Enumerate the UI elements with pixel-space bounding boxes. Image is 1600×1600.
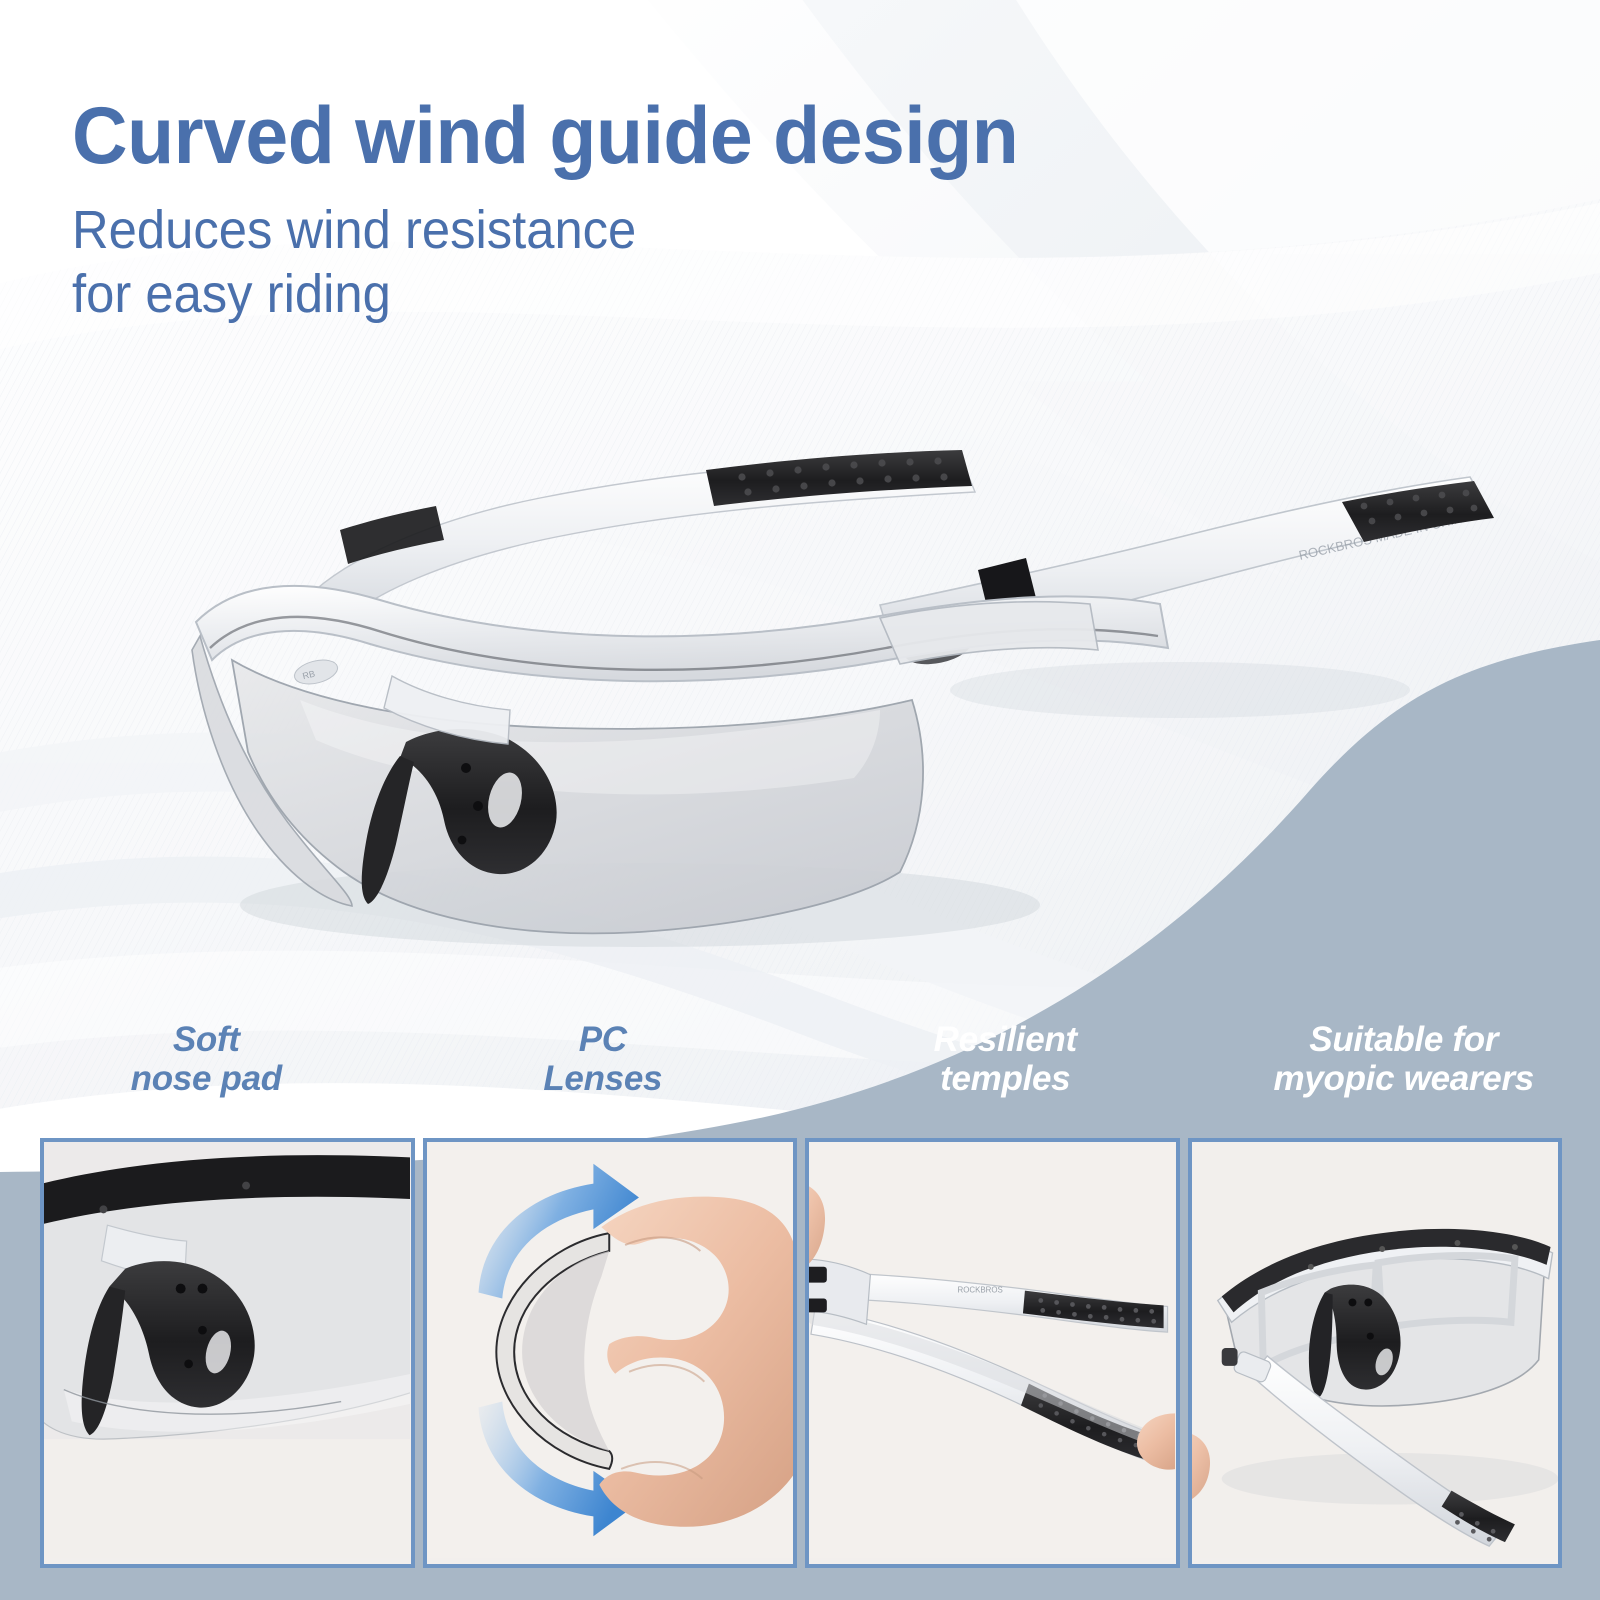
caption-line-1: Suitable for: [1208, 1020, 1600, 1059]
myopic-insert-image: [1192, 1142, 1558, 1558]
caption-line-1: PC: [407, 1020, 800, 1059]
caption-line-1: Resilient: [809, 1020, 1202, 1059]
page-subtitle-line-2: for easy riding: [72, 263, 1247, 327]
panel-resilient-temple-flex: ROCKBROS: [805, 1138, 1180, 1568]
feature-panel-row: ROCKBROS: [40, 1138, 1562, 1568]
panel-nose-pad-closeup: [40, 1138, 415, 1568]
pc-lens-flex-image: [427, 1142, 793, 1558]
feature-caption-pc-lenses: PC Lenses: [403, 1020, 800, 1130]
resilient-temple-flex-image: ROCKBROS: [809, 1142, 1175, 1558]
caption-line-2: Lenses: [407, 1059, 800, 1098]
panel-brand-text: ROCKBROS: [958, 1286, 1003, 1295]
caption-line-2: myopic wearers: [1208, 1059, 1600, 1098]
feature-caption-nose-pad: Soft nose pad: [0, 1020, 403, 1130]
feature-caption-myopic-wearers: Suitable for myopic wearers: [1202, 1020, 1600, 1130]
panel-myopic-insert: [1188, 1138, 1563, 1568]
caption-line-2: nose pad: [10, 1059, 403, 1098]
nose-pad-closeup-image: [44, 1142, 410, 1558]
product-infographic: ROCKBROS MADE IN CHINA: [0, 0, 1600, 1600]
headline-block: Curved wind guide design Reduces wind re…: [72, 96, 1322, 326]
page-subtitle-line-1: Reduces wind resistance: [72, 199, 1247, 263]
feature-caption-resilient-temples: Resilient temples: [799, 1020, 1202, 1130]
panel-pc-lens-flex: [423, 1138, 798, 1568]
page-subtitle: Reduces wind resistance for easy riding: [72, 199, 1247, 326]
caption-line-2: temples: [809, 1059, 1202, 1098]
caption-line-1: Soft: [10, 1020, 403, 1059]
feature-caption-row: Soft nose pad PC Lenses Resilient temple…: [0, 1020, 1600, 1130]
page-title: Curved wind guide design: [72, 96, 1260, 177]
